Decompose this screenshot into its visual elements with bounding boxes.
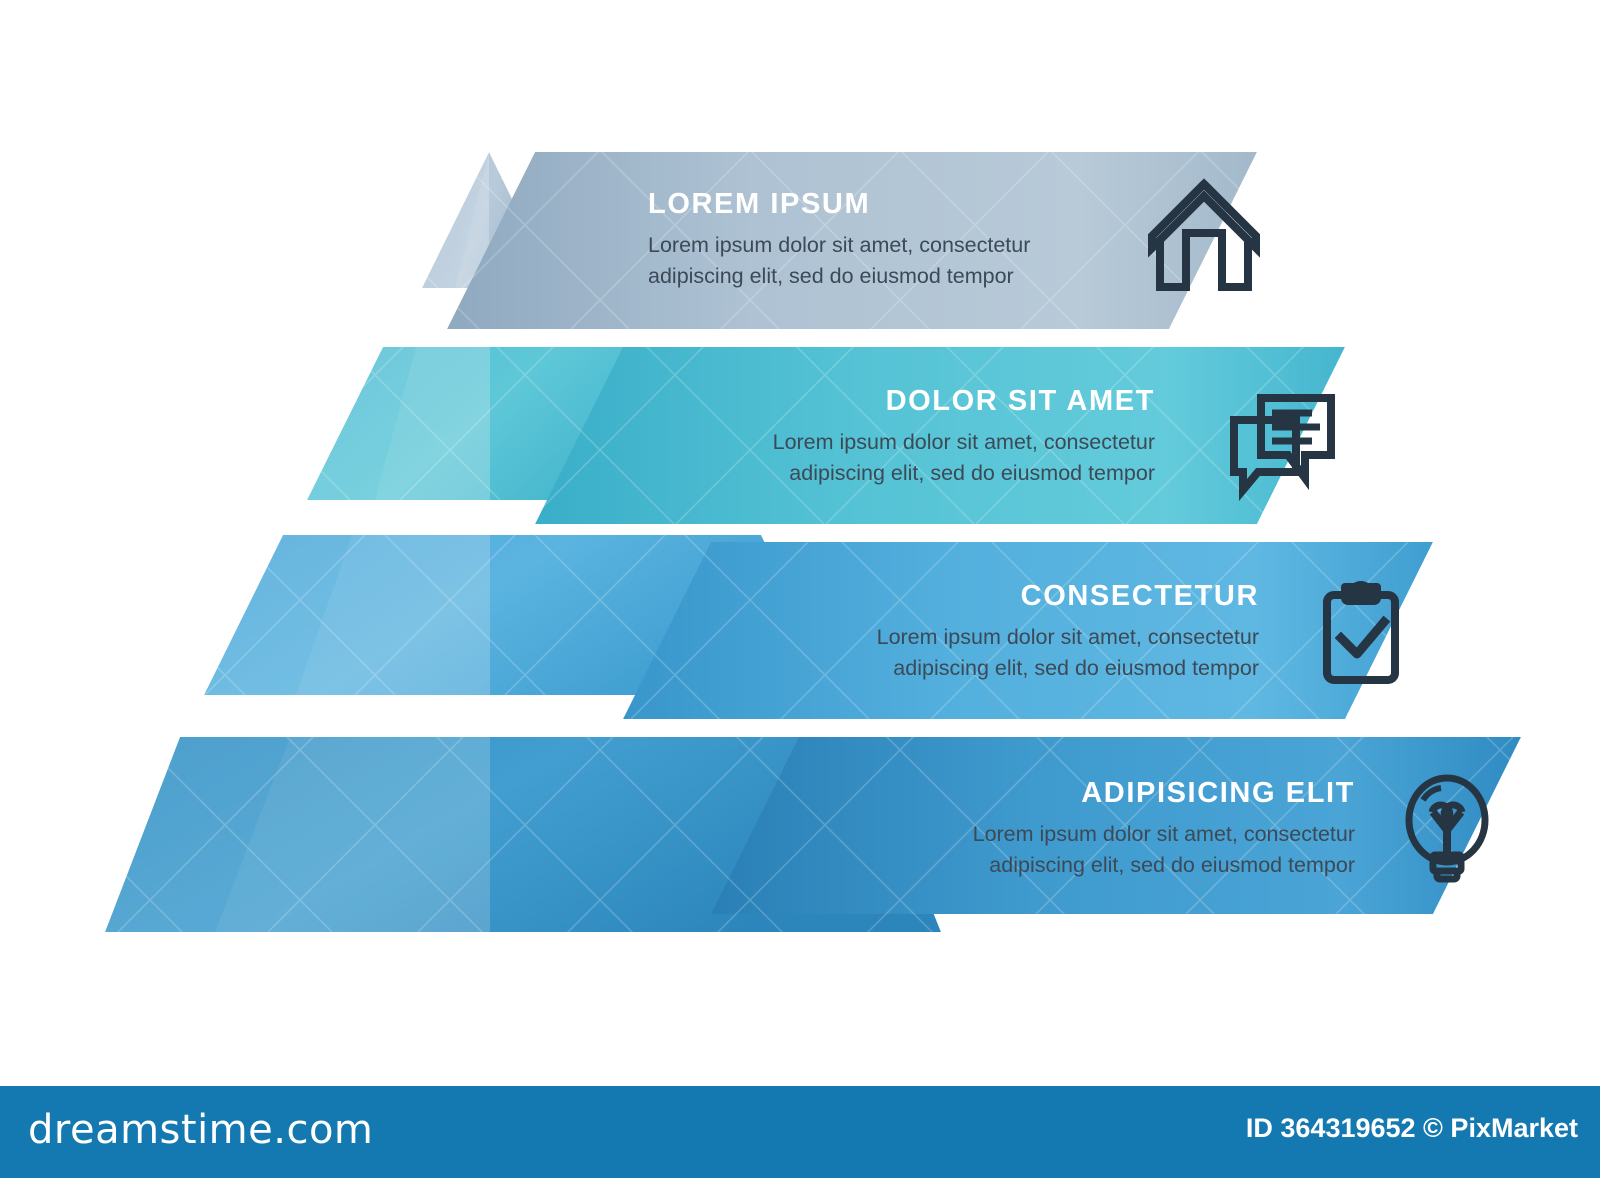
- band-title-3: CONSECTETUR: [822, 580, 1259, 613]
- band-title-2: DOLOR SIT AMET: [718, 385, 1155, 418]
- dreamstime-logo: dreamstime.com: [28, 1104, 328, 1156]
- band-content-4[interactable]: ADIPISICING ELIT Lorem ipsum dolor sit a…: [918, 777, 1355, 881]
- band-title-4: ADIPISICING ELIT: [918, 777, 1355, 810]
- image-credit-label: ID 364319652 © PixMarket: [1246, 1113, 1578, 1144]
- band-content-3[interactable]: CONSECTETUR Lorem ipsum dolor sit amet, …: [822, 580, 1259, 684]
- band-desc-1-line-1: Lorem ipsum dolor sit amet, consectetur: [648, 230, 1078, 261]
- pyramid-infographic-graphic: [0, 0, 1600, 1178]
- band-desc-4-line-1: Lorem ipsum dolor sit amet, consectetur: [918, 819, 1355, 850]
- band-desc-2-line-1: Lorem ipsum dolor sit amet, consectetur: [718, 427, 1155, 458]
- band-desc-3-line-1: Lorem ipsum dolor sit amet, consectetur: [822, 622, 1259, 653]
- dreamstime-logo-text: dreamstime.com: [28, 1104, 328, 1156]
- band-content-1[interactable]: LOREM IPSUM Lorem ipsum dolor sit amet, …: [648, 188, 1078, 292]
- band-content-2[interactable]: DOLOR SIT AMET Lorem ipsum dolor sit ame…: [718, 385, 1155, 489]
- band-desc-4-line-2: adipiscing elit, sed do eiusmod tempor: [918, 850, 1355, 881]
- band-desc-1-line-2: adipiscing elit, sed do eiusmod tempor: [648, 261, 1078, 292]
- band-title-1: LOREM IPSUM: [648, 188, 1078, 221]
- infographic-canvas: LOREM IPSUM Lorem ipsum dolor sit amet, …: [0, 0, 1600, 1178]
- band-desc-3-line-2: adipiscing elit, sed do eiusmod tempor: [822, 653, 1259, 684]
- band-desc-2-line-2: adipiscing elit, sed do eiusmod tempor: [718, 458, 1155, 489]
